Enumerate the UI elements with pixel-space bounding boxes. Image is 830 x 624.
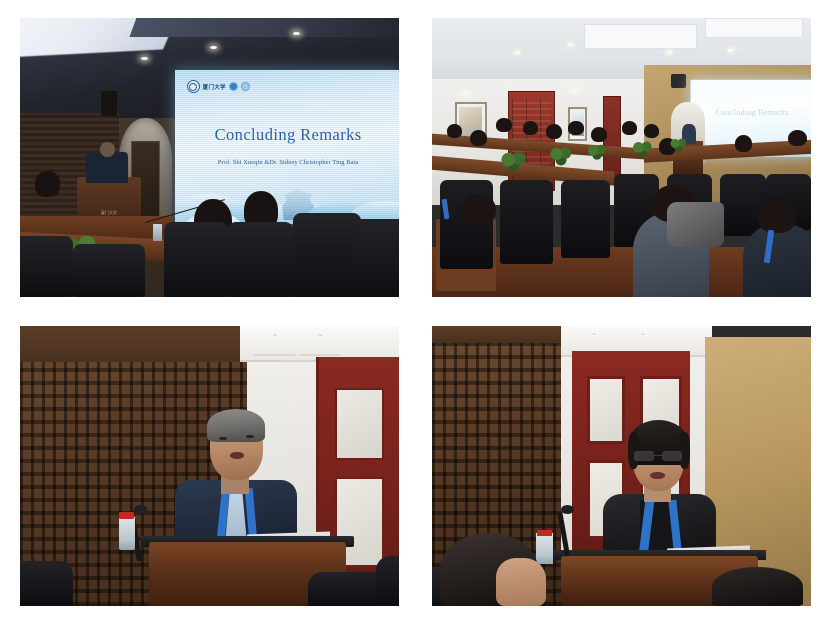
- speaker-eye: [219, 437, 227, 440]
- xiamen-university-logo-icon: [187, 80, 200, 93]
- water-bottle: [536, 533, 553, 564]
- attendee-head: [735, 135, 752, 152]
- eyeglass-bridge: [654, 455, 662, 456]
- wall-sconce: [568, 88, 580, 93]
- foreground-chair: [376, 556, 399, 606]
- attendee-head: [788, 130, 807, 147]
- conference-chair: [293, 213, 361, 297]
- foreground-attendee-head: [462, 194, 496, 225]
- table-plant: [584, 144, 611, 161]
- eyeglasses-icon: [634, 451, 682, 461]
- conference-chair: [720, 174, 765, 235]
- microphone-icon: [561, 505, 574, 514]
- attendee-head: [447, 124, 462, 138]
- attendee-head: [496, 118, 511, 132]
- ceiling-spotlight: [210, 46, 217, 49]
- photo-collage: 厦门大学 Concluding Remarks Prof. Shi Xueqin…: [0, 0, 830, 624]
- eyeglass-lens: [662, 451, 682, 461]
- wall-sconce: [459, 91, 471, 96]
- foreground-attendee-head: [712, 567, 803, 606]
- table-plant: [629, 141, 656, 158]
- slide-title: Concluding Remarks: [175, 125, 399, 145]
- bottle-cap: [119, 512, 134, 519]
- door-glass-pane: [335, 388, 384, 461]
- bottle-cap: [537, 530, 552, 536]
- seated-attendee-head: [35, 171, 60, 196]
- table-plant: [546, 146, 576, 166]
- presenter-head: [100, 142, 116, 157]
- conference-chair: [500, 180, 553, 264]
- water-bottle: [153, 224, 162, 241]
- tertiary-logo-icon: [241, 82, 250, 91]
- projected-slide-title: Concluding Remarks: [691, 108, 811, 117]
- microphone-icon: [134, 505, 146, 513]
- table-plant: [496, 152, 530, 172]
- speaker-hair: [207, 409, 265, 443]
- slide-subtitle: Prof. Shi Xueqin &Dr. Sidney Christopher…: [175, 159, 399, 166]
- conference-chair: [73, 244, 145, 297]
- lattice-wall-header: [432, 326, 568, 343]
- conference-chair: [20, 236, 73, 297]
- attendee-head: [523, 121, 538, 135]
- table-plant: [667, 138, 690, 152]
- photo-male-speaker-podium[interactable]: [20, 326, 399, 606]
- ceiling-spotlight: [293, 32, 300, 35]
- backpack: [667, 202, 724, 247]
- attendee-head: [622, 121, 637, 135]
- conference-chair: [228, 222, 292, 297]
- conference-chair: [561, 180, 610, 258]
- wall-speaker: [671, 74, 686, 88]
- wall-speaker: [101, 91, 117, 116]
- ceiling-downlight: [728, 49, 733, 52]
- eyeglass-lens: [634, 451, 654, 461]
- attendee-head: [644, 124, 659, 138]
- ceiling-light-panel: [705, 18, 804, 38]
- photo-auditorium-presentation[interactable]: 厦门大学 Concluding Remarks Prof. Shi Xueqin…: [20, 18, 399, 297]
- photo-conference-room-audience[interactable]: Concluding Remarks: [432, 18, 811, 297]
- conference-chair: [354, 219, 399, 297]
- slide-logo-row: 厦门大学: [187, 80, 250, 93]
- lattice-wall-header: [20, 326, 255, 362]
- foreground-attendee-face: [496, 558, 545, 606]
- ceiling-beam: [129, 18, 399, 38]
- attendee-head: [470, 130, 487, 147]
- water-bottle: [119, 516, 136, 550]
- attendee-head: [568, 121, 583, 135]
- conference-chair: [164, 222, 228, 297]
- conference-chair: [440, 180, 493, 269]
- speaker-mouth: [650, 472, 664, 479]
- secondary-logo-icon: [229, 82, 238, 91]
- photo-female-speaker-podium[interactable]: [432, 326, 811, 606]
- door-glass-pane: [587, 376, 625, 443]
- slide-logo-text: 厦门大学: [203, 83, 226, 91]
- ceiling-light-panel: [584, 24, 698, 49]
- attendee-head: [546, 124, 562, 139]
- foreground-attendee-head: [758, 199, 796, 232]
- foreground-attendee-body: [743, 224, 811, 297]
- foreground-chair: [20, 561, 73, 606]
- attendee-head: [591, 127, 607, 142]
